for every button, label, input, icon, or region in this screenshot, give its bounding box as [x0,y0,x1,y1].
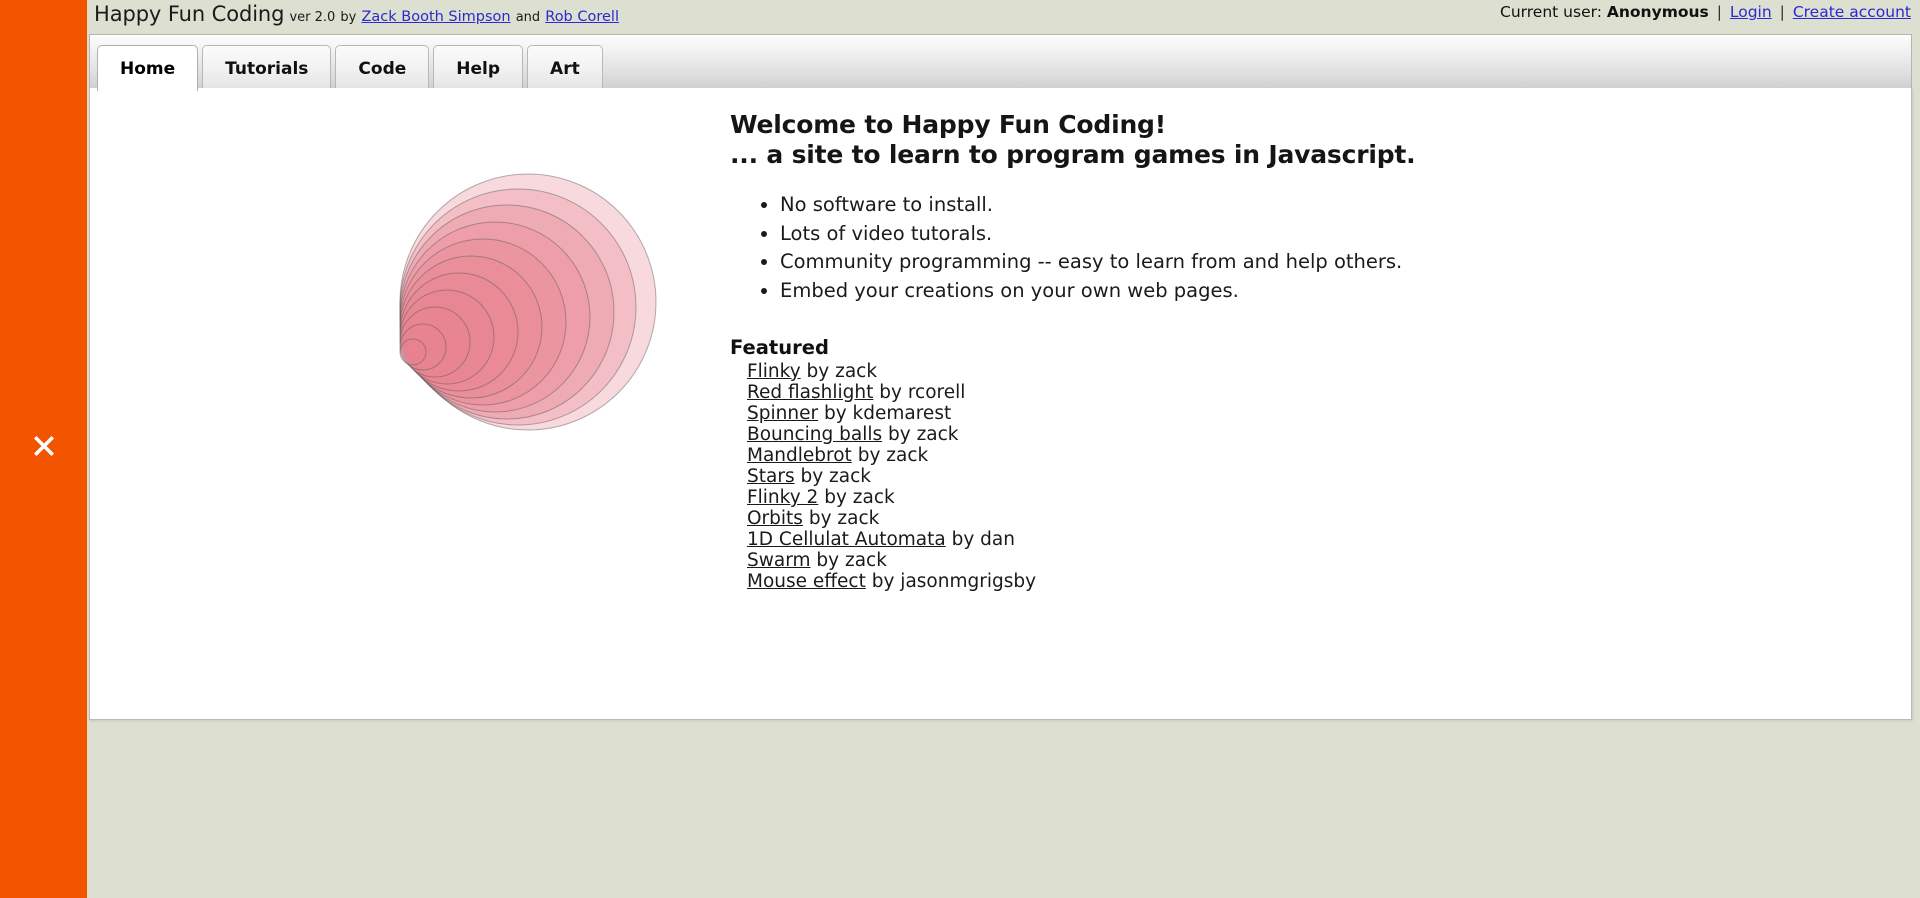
page-title: Happy Fun Coding [94,2,284,26]
tab-home[interactable]: Home [97,45,198,91]
login-link[interactable]: Login [1730,3,1772,21]
welcome-subtitle: ... a site to learn to program games in … [730,140,1730,170]
featured-author: by dan [952,529,1015,550]
featured-author: by rcorell [879,382,965,403]
list-item: Flinky 2 by zack [747,487,1730,508]
featured-author: by zack [800,466,871,487]
by-label: by [340,10,356,25]
list-item: Embed your creations on your own web pag… [780,277,1730,306]
tab-strip: Home Tutorials Code Help Art [89,34,1912,90]
list-item: Spinner by kdemarest [747,403,1730,424]
content-panel: Welcome to Happy Fun Coding! ... a site … [89,88,1912,720]
page-container: Happy Fun Coding ver 2.0 by Zack Booth S… [87,0,1920,898]
featured-heading: Featured [730,336,1730,359]
text-column: Welcome to Happy Fun Coding! ... a site … [730,110,1730,592]
author-link-2[interactable]: Rob Corell [545,9,619,25]
user-bar: Current user: Anonymous | Login | Create… [1500,3,1911,21]
list-item: Stars by zack [747,466,1730,487]
brand: Happy Fun Coding ver 2.0 by Zack Booth S… [94,2,619,26]
left-orange-rail [0,0,87,898]
list-item: Swarm by zack [747,550,1730,571]
featured-link[interactable]: Stars [747,466,795,487]
list-item: Community programming -- easy to learn f… [780,248,1730,277]
featured-author: by zack [809,508,880,529]
version-label: ver 2.0 [289,10,335,25]
featured-author: by jasonmgrigsby [872,571,1036,592]
list-item: Mouse effect by jasonmgrigsby [747,571,1730,592]
site-header: Happy Fun Coding ver 2.0 by Zack Booth S… [87,0,1920,34]
featured-author: by zack [824,487,895,508]
featured-link[interactable]: Flinky 2 [747,487,818,508]
featured-link[interactable]: Bouncing balls [747,424,882,445]
featured-author: by zack [816,550,887,571]
list-item: No software to install. [780,191,1730,220]
create-account-link[interactable]: Create account [1793,3,1911,21]
tab-list: Home Tutorials Code Help Art [97,43,607,91]
list-item: Red flashlight by rcorell [747,382,1730,403]
featured-link[interactable]: 1D Cellulat Automata [747,529,946,550]
tab-tutorials[interactable]: Tutorials [202,45,331,91]
and-label: and [516,10,540,25]
featured-link[interactable]: Red flashlight [747,382,873,403]
list-item: Mandlebrot by zack [747,445,1730,466]
list-item: Bouncing balls by zack [747,424,1730,445]
featured-link[interactable]: Swarm [747,550,811,571]
featured-link[interactable]: Flinky [747,361,801,382]
tab-help[interactable]: Help [433,45,523,91]
featured-list: Flinky by zack Red flashlight by rcorell… [730,361,1730,593]
tab-art[interactable]: Art [527,45,603,91]
featured-author: by zack [858,445,929,466]
list-item: Flinky by zack [747,361,1730,382]
featured-link[interactable]: Mandlebrot [747,445,852,466]
list-item: Orbits by zack [747,508,1730,529]
featured-link[interactable]: Orbits [747,508,803,529]
nested-pink-circles-artwork [390,168,690,488]
featured-author: by zack [888,424,959,445]
separator-2: | [1777,3,1788,21]
list-item: 1D Cellulat Automata by dan [747,529,1730,550]
current-user-label: Current user: [1500,3,1602,21]
featured-link[interactable]: Spinner [747,403,818,424]
separator-1: | [1714,3,1725,21]
welcome-title: Welcome to Happy Fun Coding! [730,110,1730,140]
close-icon[interactable] [0,424,87,468]
featured-author: by zack [807,361,878,382]
tab-code[interactable]: Code [335,45,429,91]
author-link-1[interactable]: Zack Booth Simpson [361,9,510,25]
featured-link[interactable]: Mouse effect [747,571,866,592]
featured-author: by kdemarest [824,403,951,424]
current-user-name: Anonymous [1607,3,1709,21]
feature-bullet-list: No software to install. Lots of video tu… [730,191,1730,306]
list-item: Lots of video tutorals. [780,220,1730,249]
